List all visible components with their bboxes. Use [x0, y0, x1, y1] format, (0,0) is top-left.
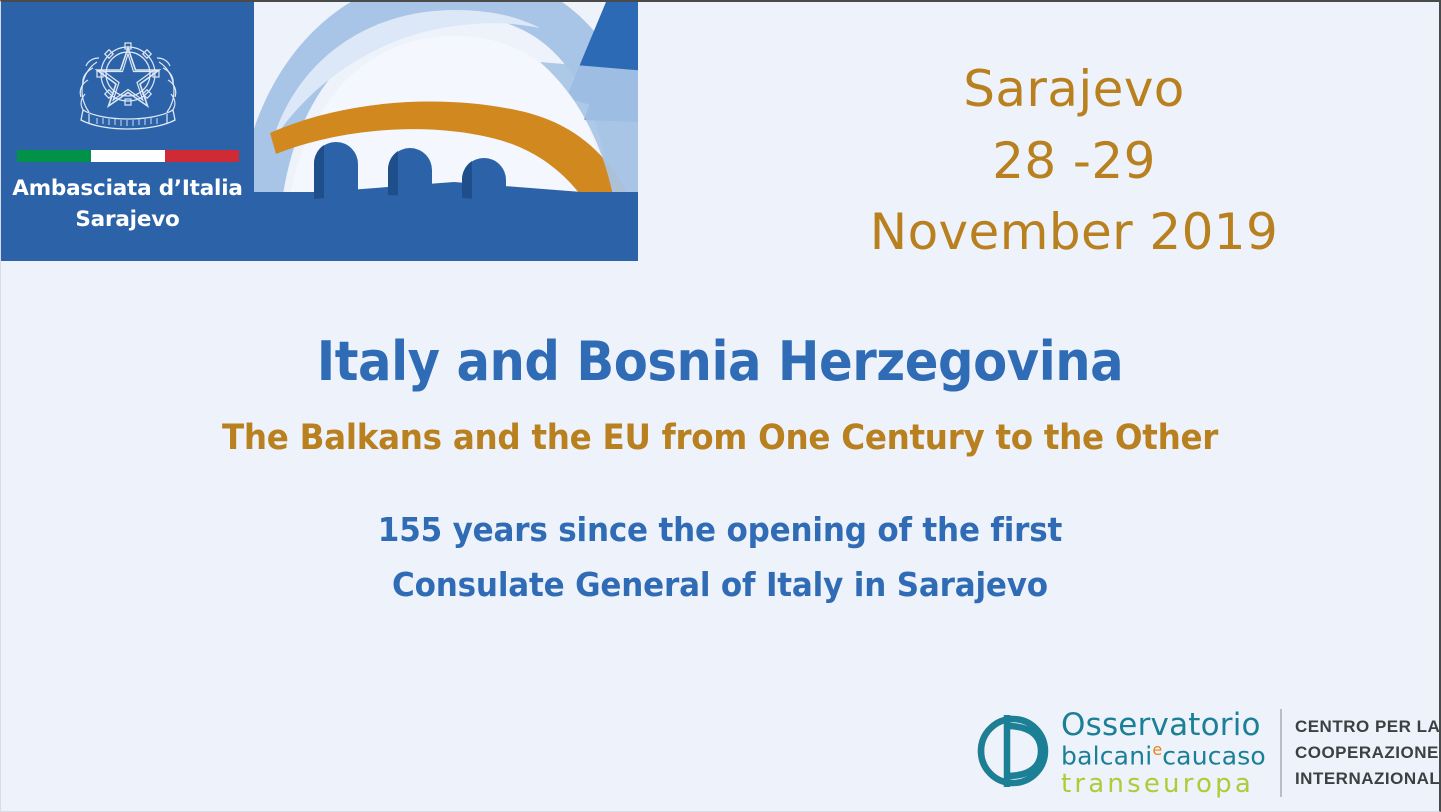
event-title-slide: Ambasciata d’Italia Sarajevo Sarajevo 28… [0, 0, 1441, 812]
page-title: Italy and Bosnia Herzegovina [59, 334, 1382, 391]
page-subtitle: The Balkans and the EU from One Century … [51, 419, 1388, 458]
obct-wordmark: Osservatorio balcaniecaucaso transeuropa [1061, 708, 1266, 798]
event-description-line1: 155 years since the opening of the first [44, 502, 1396, 557]
flag-stripe-green [17, 150, 91, 162]
obct-centro-line1: CENTRO PER LA [1295, 714, 1441, 740]
obct-word-caucaso: caucaso [1162, 741, 1266, 770]
event-days: 28 -29 [814, 126, 1334, 198]
flag-stripe-red [165, 150, 239, 162]
obct-superscript-e: e [1152, 740, 1162, 759]
flag-stripe-white [91, 150, 165, 162]
italian-republic-emblem-icon [63, 14, 193, 144]
embassy-name-line2: Sarajevo [75, 207, 179, 232]
event-description-line2: Consulate General of Italy in Sarajevo [44, 557, 1396, 612]
embassy-name: Ambasciata d’Italia Sarajevo [1, 174, 254, 235]
obct-word-balcani: balcani [1061, 741, 1152, 770]
obct-circle-mark-icon [969, 707, 1055, 799]
sarajevo-bridge-illustration [254, 2, 638, 261]
title-area: Italy and Bosnia Herzegovina The Balkans… [1, 334, 1439, 457]
embassy-identity-block: Ambasciata d’Italia Sarajevo [1, 2, 254, 261]
event-month-year: November 2019 [814, 197, 1334, 269]
event-city: Sarajevo [814, 54, 1334, 126]
italy-tricolor-bar-icon [17, 150, 239, 162]
obct-logo: Osservatorio balcaniecaucaso transeuropa… [969, 703, 1389, 803]
obct-word-balcani-caucaso: balcaniecaucaso [1061, 741, 1266, 770]
header-banner: Ambasciata d’Italia Sarajevo [1, 2, 638, 261]
obct-centro-text: CENTRO PER LA COOPERAZIONE INTERNAZIONAL… [1295, 714, 1441, 791]
embassy-name-line1: Ambasciata d’Italia [12, 176, 242, 201]
obct-word-osservatorio: Osservatorio [1061, 710, 1266, 741]
obct-centro-line3: INTERNAZIONALE [1295, 766, 1441, 792]
event-date-block: Sarajevo 28 -29 November 2019 [814, 54, 1334, 269]
obct-word-transeuropa: transeuropa [1061, 770, 1266, 798]
obct-divider [1280, 709, 1282, 797]
obct-centro-line2: COOPERAZIONE [1295, 740, 1441, 766]
event-description: 155 years since the opening of the first… [1, 502, 1439, 613]
